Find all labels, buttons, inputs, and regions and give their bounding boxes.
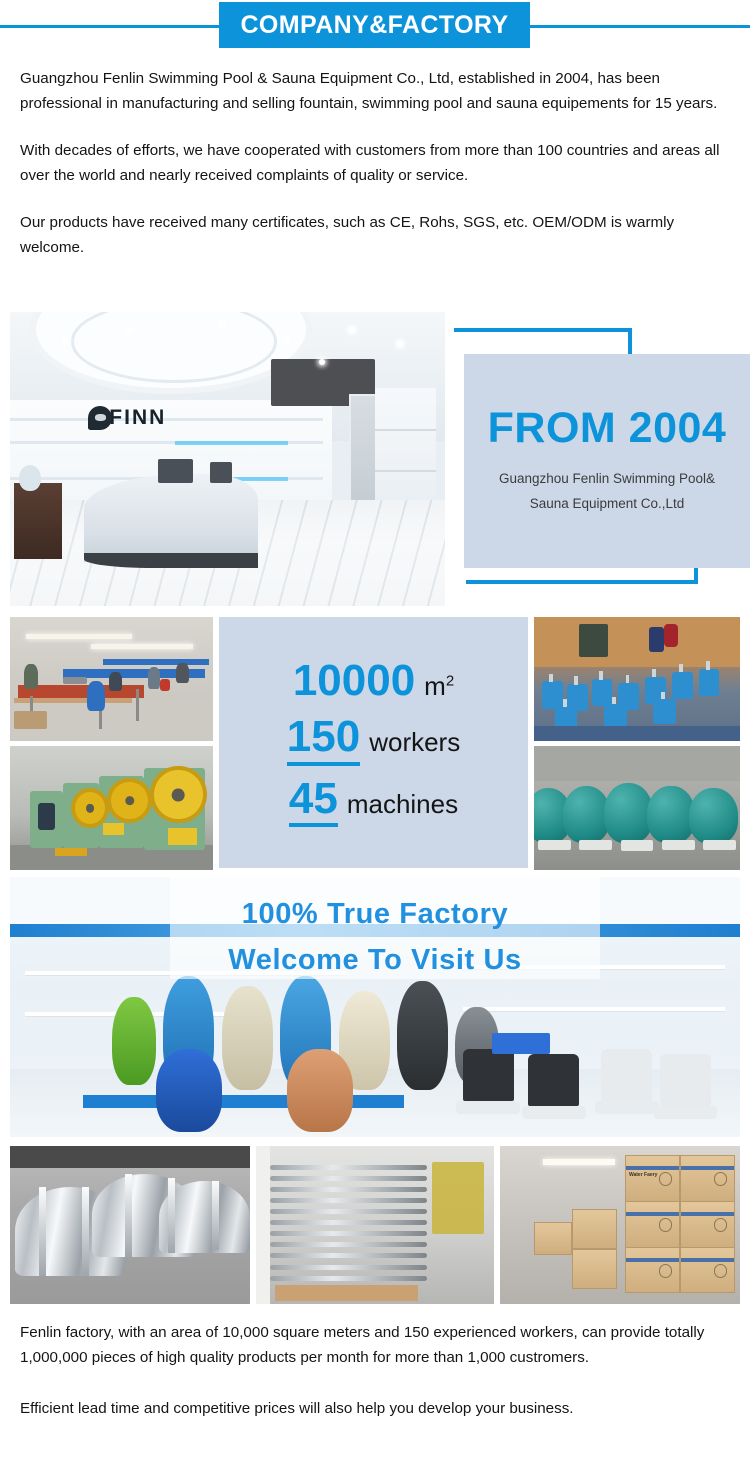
intro-text-block: Guangzhou Fenlin Swimming Pool & Sauna E… bbox=[20, 66, 732, 260]
stat-value-workers: 150 bbox=[287, 714, 360, 765]
stat-item-workers: 150 workers bbox=[287, 714, 460, 765]
factory-stats-card: 10000 m2 150 workers 45 machines bbox=[219, 617, 528, 868]
header-rule-left bbox=[0, 25, 222, 28]
intro-paragraph-2: With decades of efforts, we have coopera… bbox=[20, 138, 732, 188]
showroom-products-display-photo: 100% True Factory Welcome To Visit Us bbox=[10, 877, 740, 1137]
showroom-headline-line-1: 100% True Factory bbox=[10, 891, 740, 937]
packed-cartons-warehouse-photo: Water Faery bbox=[500, 1146, 740, 1304]
showroom-headline: 100% True Factory Welcome To Visit Us bbox=[10, 891, 740, 983]
intro-paragraph-1: Guangzhou Fenlin Swimming Pool & Sauna E… bbox=[20, 66, 732, 116]
lobby-and-brand-row: FINN FROM 2004 Guangzhou Fenlin Swimming… bbox=[0, 312, 750, 608]
section-header: COMPANY&FACTORY bbox=[0, 0, 750, 58]
from-year-headline: FROM 2004 bbox=[488, 407, 727, 450]
brand-panel: FROM 2004 Guangzhou Fenlin Swimming Pool… bbox=[440, 312, 750, 608]
finn-logo: FINN bbox=[88, 406, 166, 430]
company-name-line-2: Sauna Equipment Co.,Ltd bbox=[499, 491, 715, 516]
header-rule-right bbox=[527, 25, 750, 28]
brand-card: FROM 2004 Guangzhou Fenlin Swimming Pool… bbox=[464, 354, 750, 568]
stat-item-area: 10000 m2 bbox=[293, 658, 454, 704]
stainless-steel-covers-photo bbox=[10, 1146, 250, 1304]
showroom-headline-line-2: Welcome To Visit Us bbox=[10, 937, 740, 983]
stats-right-photo-column bbox=[534, 617, 740, 870]
outro-paragraph-2: Efficient lead time and competitive pric… bbox=[20, 1396, 732, 1421]
pool-ladders-stack-photo bbox=[256, 1146, 494, 1304]
finn-logo-text: FINN bbox=[109, 406, 166, 430]
carton-brand-label: Water Faery bbox=[629, 1172, 657, 1178]
blue-pump-motors-photo bbox=[534, 617, 740, 741]
stats-left-photo-column bbox=[10, 617, 213, 870]
stats-row: 10000 m2 150 workers 45 machines bbox=[0, 617, 750, 870]
stat-value-area: 10000 bbox=[293, 658, 415, 704]
bracket-top-vertical bbox=[628, 328, 632, 356]
bracket-top-horizontal bbox=[454, 328, 632, 332]
outro-text-block: Fenlin factory, with an area of 10,000 s… bbox=[20, 1320, 732, 1421]
assembly-workshop-photo bbox=[10, 617, 213, 741]
outro-paragraph-1: Fenlin factory, with an area of 10,000 s… bbox=[20, 1320, 732, 1370]
company-name-line-1: Guangzhou Fenlin Swimming Pool& bbox=[499, 466, 715, 491]
section-title-badge: COMPANY&FACTORY bbox=[219, 2, 530, 48]
intro-paragraph-3: Our products have received many certific… bbox=[20, 210, 732, 260]
stat-unit-area: m2 bbox=[424, 671, 454, 702]
stat-unit-workers: workers bbox=[369, 727, 460, 758]
stamping-press-machines-photo bbox=[10, 746, 213, 870]
stat-value-machines: 45 bbox=[289, 776, 338, 827]
teal-sand-filter-tanks-photo bbox=[534, 746, 740, 870]
stat-item-machines: 45 machines bbox=[289, 776, 458, 827]
company-lobby-reception-photo: FINN bbox=[10, 312, 445, 606]
bottom-photo-row: Water Faery bbox=[0, 1146, 750, 1304]
bracket-bottom-horizontal bbox=[466, 580, 698, 584]
stat-unit-machines: machines bbox=[347, 789, 458, 820]
company-factory-page: COMPANY&FACTORY Guangzhou Fenlin Swimmin… bbox=[0, 0, 750, 1463]
